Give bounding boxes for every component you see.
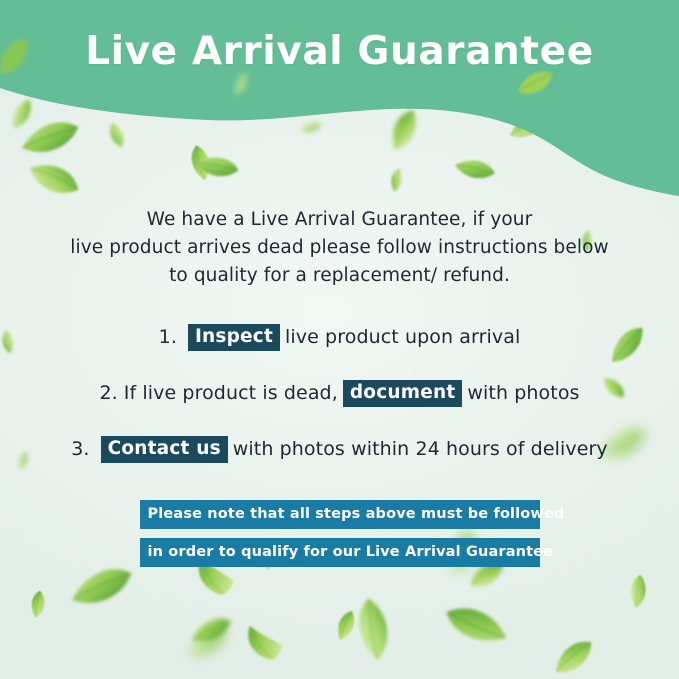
step-item-2: 2. If live product is dead, document wit… (0, 376, 679, 410)
steps-list: 1. Inspect live product upon arrival 2. … (0, 320, 679, 466)
intro-line-1: We have a Live Arrival Guarantee, if you… (70, 206, 610, 234)
step-number-3: 3. (71, 438, 89, 460)
step-text-2-after: with photos (467, 382, 579, 404)
step-highlight-inspect: Inspect (188, 324, 280, 351)
step-item-3: 3. Contact us with photos within 24 hour… (0, 432, 679, 466)
note-banner-line-2: in order to qualify for our Live Arrival… (140, 538, 540, 567)
intro-line-2: live product arrives dead please follow … (70, 234, 610, 262)
live-arrival-guarantee-graphic: Live Arrival Guarantee We have a Live Ar… (0, 0, 679, 679)
intro-line-3: to quality for a replacement/ refund. (70, 262, 610, 290)
step-text-3: with photos within 24 hours of delivery (233, 438, 608, 460)
note-banner-line-1: Please note that all steps above must be… (140, 500, 540, 529)
step-number-2: 2. (99, 382, 117, 404)
step-text-2-before: If live product is dead, (124, 382, 338, 404)
step-item-1: 1. Inspect live product upon arrival (0, 320, 679, 354)
step-highlight-contact-us: Contact us (101, 436, 228, 463)
step-number-1: 1. (159, 326, 177, 348)
intro-paragraph: We have a Live Arrival Guarantee, if you… (70, 206, 610, 290)
step-text-1: live product upon arrival (285, 326, 520, 348)
step-highlight-document: document (343, 380, 463, 407)
content-area: We have a Live Arrival Guarantee, if you… (0, 0, 679, 679)
note-banners: Please note that all steps above must be… (140, 500, 540, 567)
